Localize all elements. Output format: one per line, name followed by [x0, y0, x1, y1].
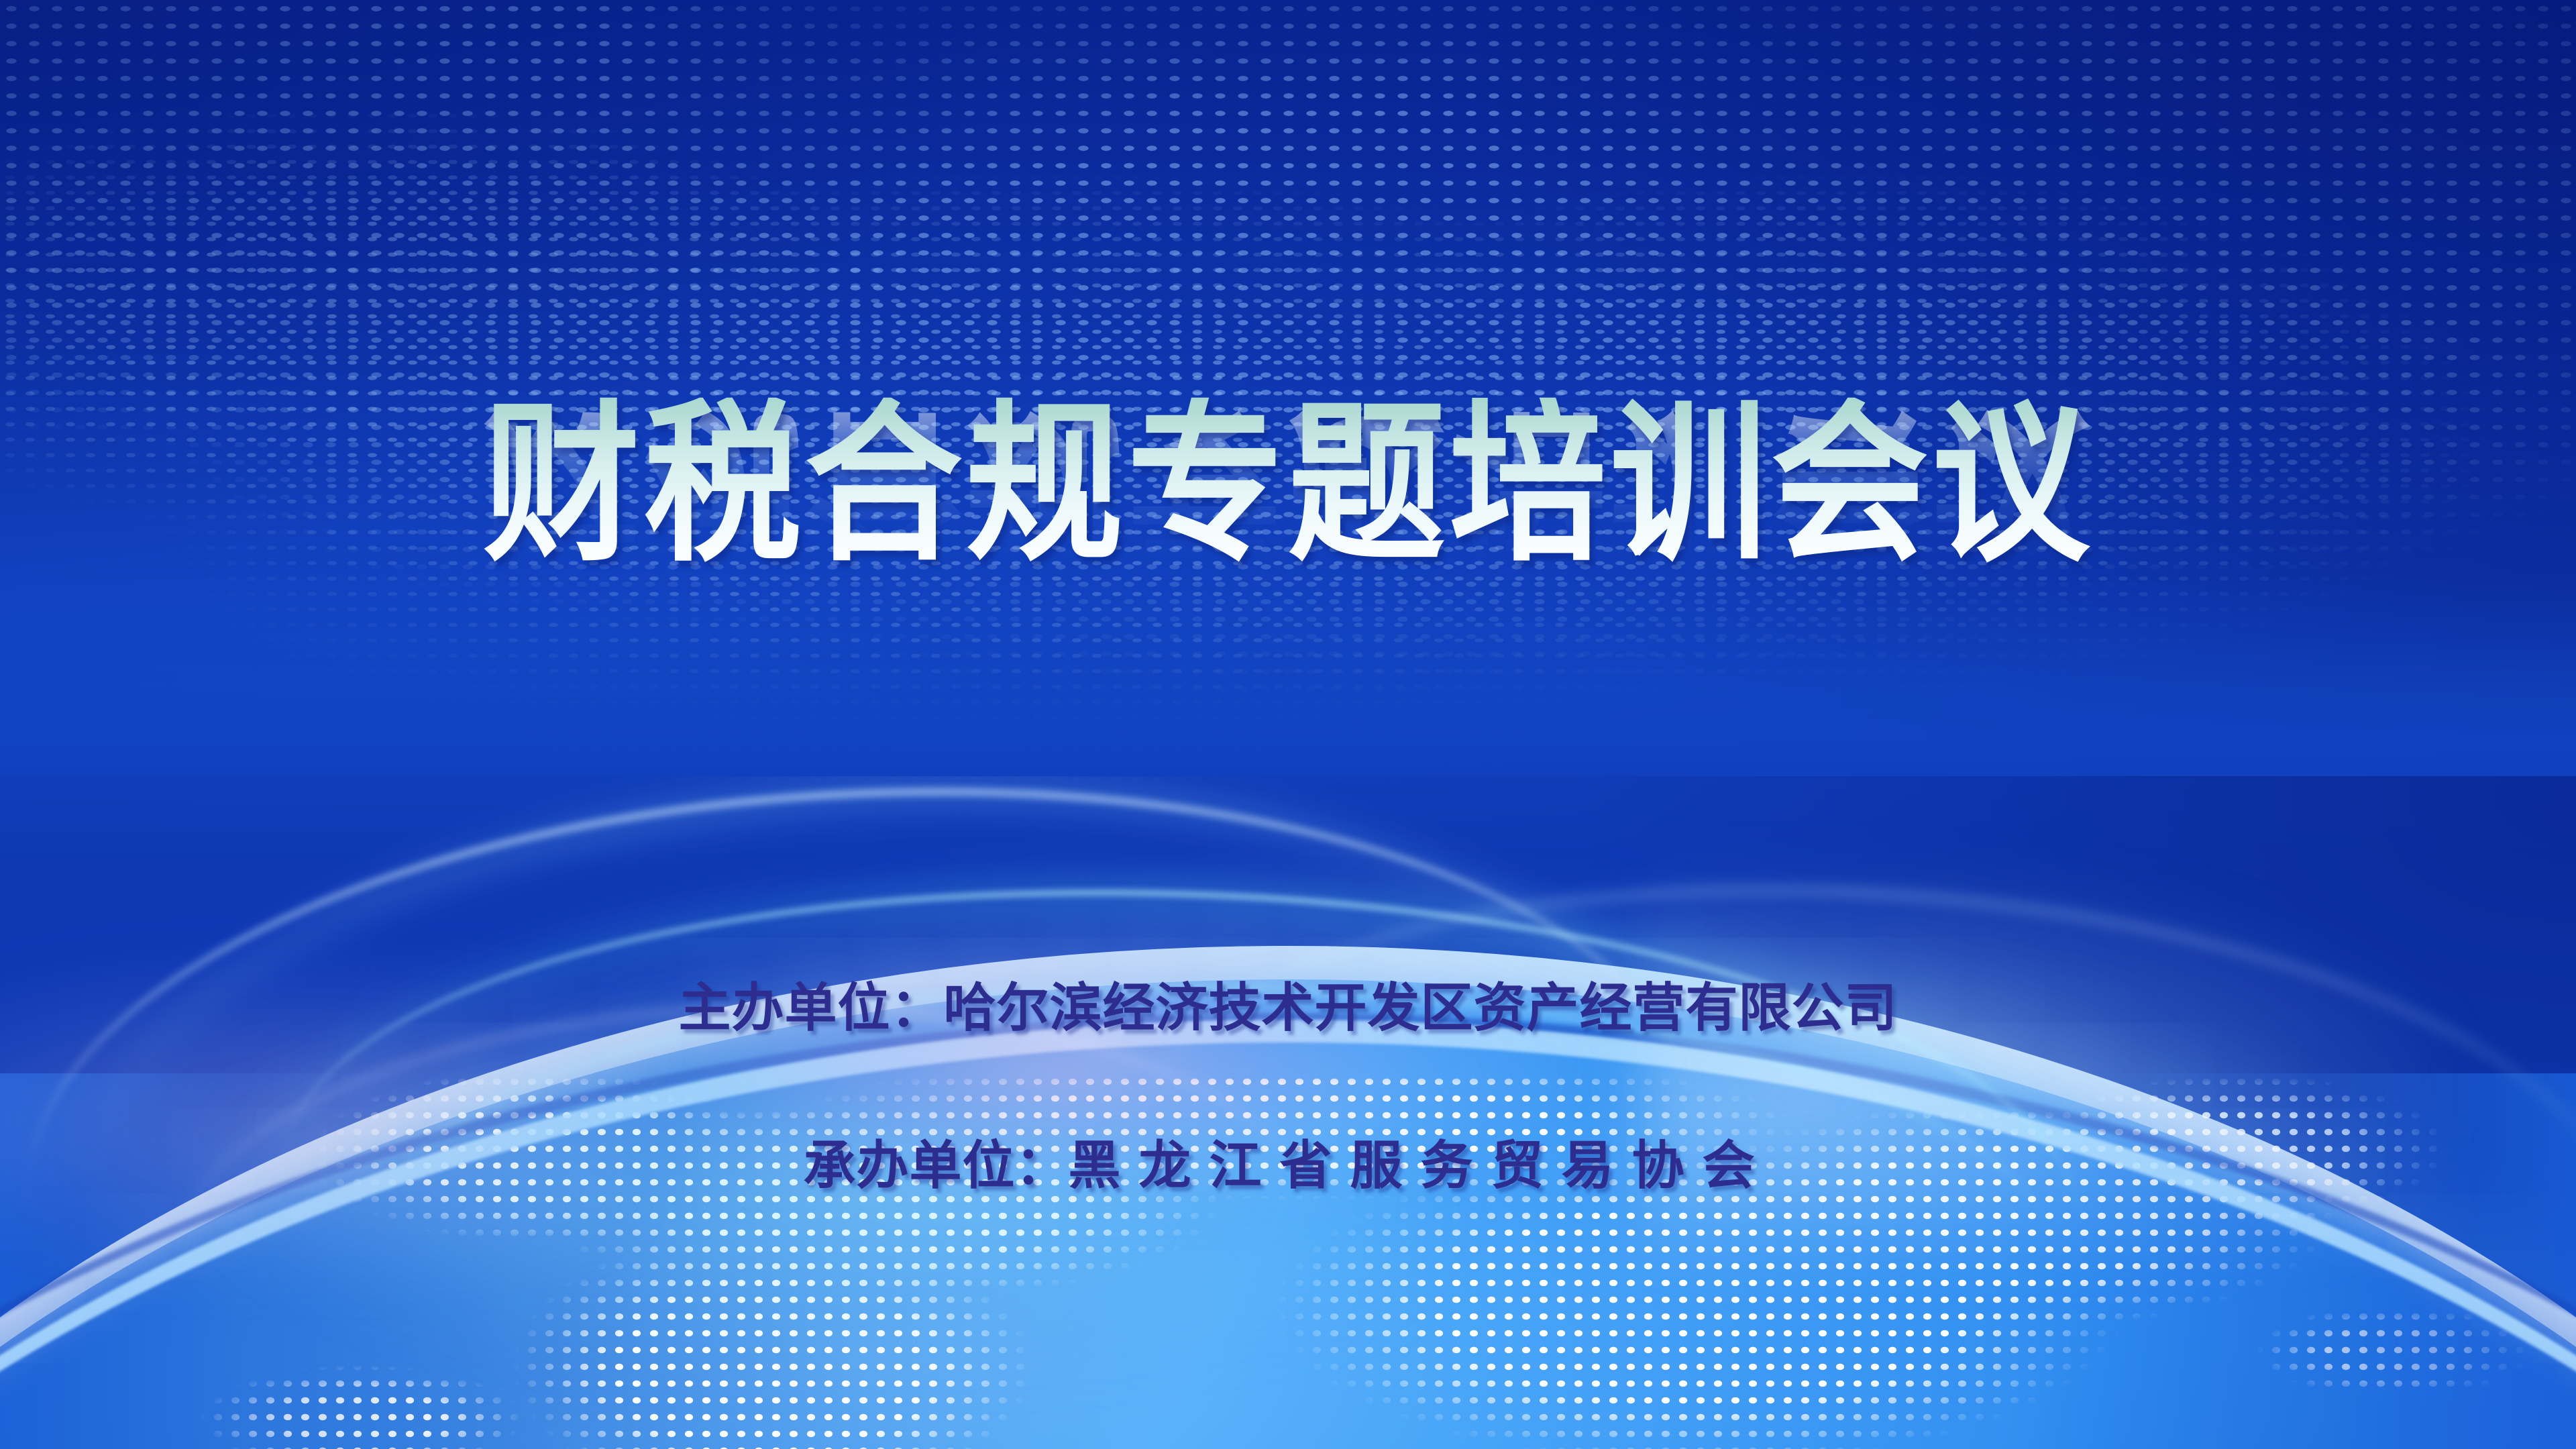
organizer-label: 承办单位：	[803, 1136, 1068, 1196]
title-block: 财税合规专题培训会议	[0, 402, 2576, 566]
host-value: 哈尔滨经济技术开发区资产经营有限公司	[944, 978, 1898, 1038]
organizer-line: 承办单位：黑龙江省服务贸易协会	[0, 1124, 2576, 1199]
conference-poster: 财税合规专题培训会议 财税合规专题培训会议 主办单位：哈尔滨经济技术开发区资产经…	[0, 0, 2576, 1449]
host-organization-line: 主办单位：哈尔滨经济技术开发区资产经营有限公司	[0, 966, 2576, 1041]
organizer-value: 黑龙江省服务贸易协会	[1069, 1136, 1773, 1196]
host-label: 主办单位：	[678, 978, 943, 1038]
page-title: 财税合规专题培训会议	[483, 398, 2093, 572]
title-reflection-fade	[0, 575, 2576, 776]
subtitle-block: 主办单位：哈尔滨经济技术开发区资产经营有限公司 承办单位：黑龙江省服务贸易协会	[0, 966, 2576, 1199]
